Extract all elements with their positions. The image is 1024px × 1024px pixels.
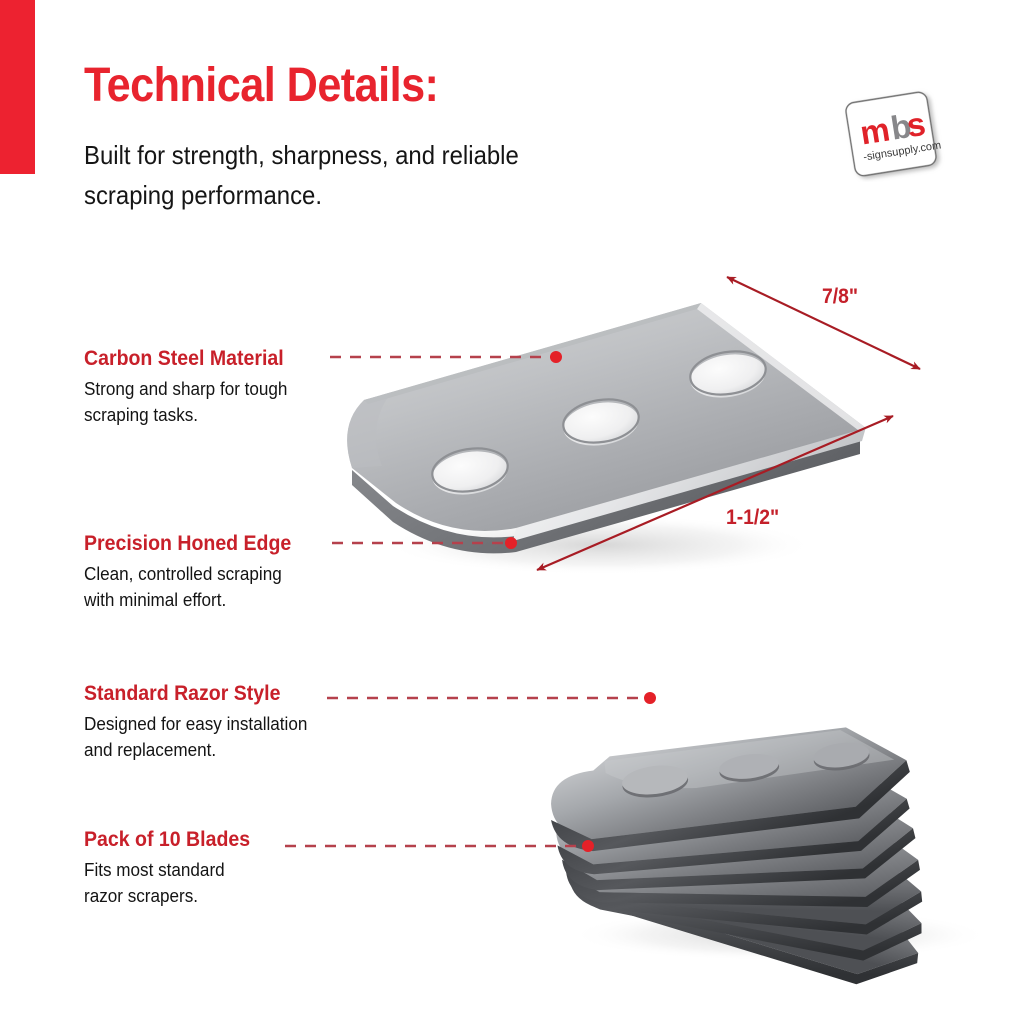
callout-body: Clean, controlled scraping with minimal …	[84, 561, 296, 613]
dimension-label-width: 7/8"	[822, 285, 858, 309]
fanned-blade	[553, 763, 913, 878]
dimension-arrow-length	[537, 416, 893, 570]
logo-icon: m b s -signsupply.com	[836, 86, 946, 182]
callout-standard-razor-style: Standard Razor Style Designed for easy i…	[84, 683, 319, 763]
connector-dot-1	[550, 351, 562, 363]
callout-body: Designed for easy installation and repla…	[84, 711, 307, 763]
callout-heading: Precision Honed Edge	[84, 533, 291, 554]
page-subtitle: Built for strength, sharpness, and relia…	[84, 136, 654, 215]
callout-pack-of-10-blades: Pack of 10 Blades Fits most standard raz…	[84, 829, 263, 909]
brand-logo: m b s -signsupply.com	[836, 86, 946, 182]
connector-dot-3	[644, 692, 656, 704]
blade-stack-image	[544, 720, 990, 999]
connector-lines	[285, 351, 656, 852]
connector-dot-2	[505, 537, 517, 549]
callout-body: Fits most standard razor scrapers.	[84, 857, 254, 909]
blade-mounting-holes	[429, 346, 769, 499]
fanned-blade	[566, 822, 927, 940]
svg-text:m: m	[858, 111, 892, 152]
fanned-blade	[567, 821, 931, 971]
callout-precision-honed-edge: Precision Honed Edge Clean, controlled s…	[84, 533, 307, 613]
honed-edge-highlight	[513, 427, 866, 541]
fanned-blade	[565, 818, 921, 908]
single-blade-image	[347, 303, 866, 575]
callout-heading: Carbon Steel Material	[84, 348, 284, 369]
accent-bar	[0, 0, 35, 174]
infographic-page: Technical Details: Built for strength, s…	[0, 0, 1024, 1024]
blade-top-face	[347, 303, 866, 531]
dimension-label-length: 1-1/2"	[726, 506, 779, 530]
blade-thickness	[352, 438, 860, 553]
fanned-blade	[560, 792, 917, 891]
callout-heading: Standard Razor Style	[84, 683, 303, 704]
connector-dot-4	[582, 840, 594, 852]
fanned-blade	[567, 816, 930, 1000]
page-title: Technical Details:	[84, 62, 438, 110]
top-blade-of-stack	[544, 720, 915, 855]
callout-body: Strong and sharp for tough scraping task…	[84, 376, 288, 428]
callout-heading: Pack of 10 Blades	[84, 829, 250, 850]
callout-carbon-steel-material: Carbon Steel Material Strong and sharp f…	[84, 348, 299, 428]
